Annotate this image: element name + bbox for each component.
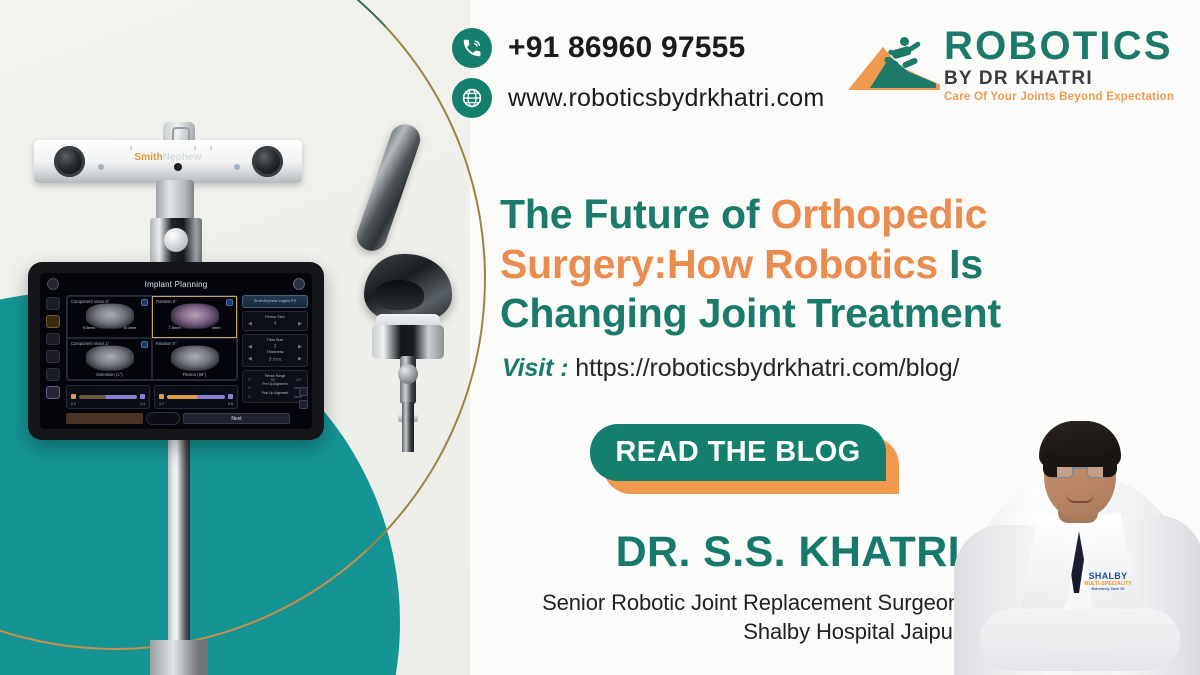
slider-handle-min[interactable] — [159, 394, 164, 399]
phone-row[interactable]: +91 86960 97555 — [452, 28, 824, 68]
contact-block: +91 86960 97555 www.roboticsbydrkhatri.c… — [452, 28, 824, 128]
sidebar-icon-plan[interactable] — [46, 386, 60, 399]
slider-max-value: 5.6 — [228, 402, 233, 406]
slider-handle-min[interactable] — [71, 394, 76, 399]
screen-title: Implant Planning — [40, 280, 312, 289]
thickness-value: 9 mm — [269, 357, 282, 363]
quadrant-value-right: 8.0mm — [124, 325, 136, 330]
femur-size-stepper[interactable]: ◀ 4 ▶ — [245, 320, 305, 327]
doctor-name: DR. S.S. KHATRI — [440, 528, 960, 577]
sidebar-icon-bone[interactable] — [46, 315, 60, 328]
implant-stand-joint — [398, 364, 418, 384]
doctor-credentials: Senior Robotic Joint Replacement Surgeon… — [420, 588, 960, 647]
logo-text-block: ROBOTICS BY DR KHATRI Care Of Your Joint… — [944, 26, 1178, 104]
implant-stand-lower — [402, 402, 414, 452]
slider-track[interactable] — [167, 395, 225, 399]
femoral-component — [364, 254, 452, 322]
globe-icon — [452, 78, 492, 118]
slider-handle-max[interactable] — [140, 394, 145, 399]
visit-label: Visit : — [502, 354, 575, 382]
slider-min-value: 1.7 — [159, 402, 164, 406]
doctor-role-line-1: Senior Robotic Joint Replacement Surgeon — [420, 588, 960, 617]
tracker-status-indicator — [146, 412, 180, 425]
runner-head — [900, 37, 909, 46]
thickness-decrease-icon[interactable]: ◀ — [248, 356, 252, 362]
post-op-angle: 2° — [248, 395, 251, 399]
femur-increase-icon[interactable]: ▶ — [298, 321, 302, 327]
camera-sensor-dot — [98, 164, 104, 170]
camera-brand-smith: Smith — [134, 152, 162, 163]
quadrant-pin-icon[interactable] — [226, 299, 233, 306]
camera-sensor-dot — [234, 164, 240, 170]
slider-min-value: 0.2 — [71, 402, 76, 406]
quadrant-values: 7.5mm 4mm — [153, 325, 236, 330]
femur-size-control[interactable]: Femur Size ◀ 4 ▶ — [242, 311, 308, 331]
doctor-photo: SHALBY MULTI-SPECIALITY Extremely Care O… — [954, 385, 1200, 675]
flexion-range-min: 2° — [248, 378, 251, 382]
robotic-surgical-system-image: SmithNephew Implant Planning — [0, 0, 470, 675]
quadrant-pin-icon[interactable] — [141, 341, 148, 348]
tibia-increase-icon[interactable]: ▶ — [298, 344, 302, 350]
post-op-alignment-values: 2° Varus — [245, 395, 305, 399]
coat-logo-main: SHALBY — [1082, 572, 1134, 581]
camera-tick — [130, 146, 132, 150]
gap-slider-flexion[interactable]: 1.7 5.6 — [154, 385, 238, 409]
visit-line[interactable]: Visit : https://roboticsbydrkhatri.com/b… — [502, 354, 959, 383]
screen-sidebar — [44, 295, 62, 399]
slider-track[interactable] — [79, 395, 137, 399]
arm-adjust-knob — [164, 228, 188, 252]
gap-slider-extension[interactable]: 0.2 1.4 — [66, 385, 150, 409]
quadrant-panel[interactable]: Rotation 0° Flexion (89°) — [152, 338, 237, 380]
help-icon[interactable] — [299, 387, 308, 396]
thickness-stepper[interactable]: ◀ 9 mm ▶ — [245, 356, 305, 363]
femur-decrease-icon[interactable]: ◀ — [248, 321, 252, 327]
progress-bar — [66, 413, 143, 424]
thickness-increase-icon[interactable]: ▶ — [298, 356, 302, 362]
logo-wordmark: ROBOTICS — [944, 26, 1178, 66]
camera-brand-label: SmithNephew — [34, 152, 302, 163]
quadrant-caption: Extension (1°) — [68, 372, 151, 377]
implant-handle — [353, 120, 424, 255]
sidebar-icon-scan[interactable] — [46, 368, 60, 381]
headline-part-1: The Future of — [500, 191, 771, 237]
website-url: www.roboticsbydrkhatri.com — [508, 84, 824, 113]
tibial-component — [372, 325, 444, 359]
quadrant-value-left: 7.5mm — [168, 325, 180, 330]
screen-quadrant-grid: Component Varus 0° 9.0mm 8.0mm Rotation … — [66, 295, 238, 381]
quadrant-value-right: 4mm — [212, 325, 221, 330]
navigation-camera-bar: SmithNephew — [34, 140, 302, 183]
phone-icon — [452, 28, 492, 68]
capture-icon[interactable] — [299, 400, 308, 409]
page-title: The Future of Orthopedic Surgery:How Rob… — [500, 190, 1160, 339]
quadrant-label: Rotation 0° — [156, 299, 177, 304]
logo-subtitle: BY DR KHATRI — [944, 69, 1178, 88]
quadrant-pin-icon[interactable] — [141, 299, 148, 306]
website-row[interactable]: www.roboticsbydrkhatri.com — [452, 78, 824, 118]
slider-max-value: 1.4 — [140, 402, 145, 406]
read-the-blog-button[interactable]: READ THE BLOG — [590, 424, 886, 481]
quadrant-panel[interactable]: Component Varus 1° Extension (1°) — [67, 338, 152, 380]
camera-brand-nephew: Nephew — [163, 152, 202, 163]
brand-logo[interactable]: ROBOTICS BY DR KHATRI Care Of Your Joint… — [848, 26, 1178, 104]
cta-container: READ THE BLOG — [590, 424, 900, 496]
banner-canvas: SmithNephew Implant Planning — [0, 0, 1200, 675]
surgical-monitor: Implant Planning Component Varus 0° — [28, 262, 324, 440]
camera-tick — [210, 146, 212, 150]
next-button[interactable]: Next — [183, 413, 290, 424]
bone-render — [170, 346, 218, 371]
quadrant-values: 9.0mm 8.0mm — [68, 325, 151, 330]
quadrant-panel[interactable]: Component Varus 0° 9.0mm 8.0mm — [67, 296, 152, 338]
quadrant-label: Rotation 0° — [156, 341, 177, 346]
flexion-range-max: 120° — [295, 378, 302, 382]
slider-handle-max[interactable] — [228, 394, 233, 399]
screen-info-icon[interactable] — [293, 278, 305, 290]
headline-part-3: How Robotics — [667, 241, 938, 287]
screen-corner-icons — [299, 387, 308, 409]
implant-name: SmithNephew Legion PS — [245, 299, 305, 304]
camera-center-sensor — [174, 163, 182, 171]
runner-leg — [901, 57, 918, 69]
logo-mark-icon — [848, 36, 940, 94]
sidebar-icon-tool[interactable] — [46, 333, 60, 346]
coat-hospital-logo: SHALBY MULTI-SPECIALITY Extremely Care O… — [1082, 572, 1134, 591]
monitor-screen: Implant Planning Component Varus 0° — [40, 273, 312, 429]
implant-selector[interactable]: SmithNephew Legion PS — [242, 295, 308, 308]
quadrant-caption: Flexion (89°) — [153, 372, 236, 377]
phone-number: +91 86960 97555 — [508, 31, 745, 65]
monitor-stand-foot — [150, 640, 208, 675]
running-figure-icon — [878, 36, 926, 76]
sidebar-icon-patient[interactable] — [46, 297, 60, 310]
knee-implant-model — [344, 118, 466, 448]
bone-render — [85, 346, 133, 371]
logo-tagline: Care Of Your Joints Beyond Expectation — [944, 92, 1178, 104]
sidebar-icon-implant[interactable] — [46, 350, 60, 363]
pre-op-angle: 4° — [248, 386, 251, 390]
visit-url[interactable]: https://roboticsbydrkhatri.com/blog/ — [575, 354, 959, 382]
doctor-role-line-2: Shalby Hospital Jaipur — [420, 617, 960, 646]
doctor-crossed-arms — [980, 609, 1180, 671]
femur-size-value: 4 — [274, 321, 277, 327]
glasses-bridge — [1073, 467, 1087, 469]
tibia-decrease-icon[interactable]: ◀ — [248, 344, 252, 350]
tibia-size-stepper[interactable]: ◀ 3 ▶ — [245, 343, 305, 350]
doctor-hair — [1039, 421, 1121, 467]
quadrant-value-left: 9.0mm — [83, 325, 95, 330]
screen-control-panel: SmithNephew Legion PS Femur Size ◀ 4 ▶ T… — [242, 295, 308, 381]
runner-arm — [908, 41, 922, 52]
quadrant-panel-selected[interactable]: Rotation 0° 7.5mm 4mm — [152, 296, 237, 338]
screen-bottom-bar: Next — [66, 412, 290, 425]
coat-logo-tagline: Extremely Care Of — [1082, 587, 1134, 591]
tibia-size-control[interactable]: Tibia Size ◀ 3 ▶ Thickness ◀ 9 mm ▶ — [242, 334, 308, 366]
camera-tick — [194, 146, 196, 150]
screen-slider-row: 0.2 1.4 1.7 5.6 — [66, 385, 238, 409]
